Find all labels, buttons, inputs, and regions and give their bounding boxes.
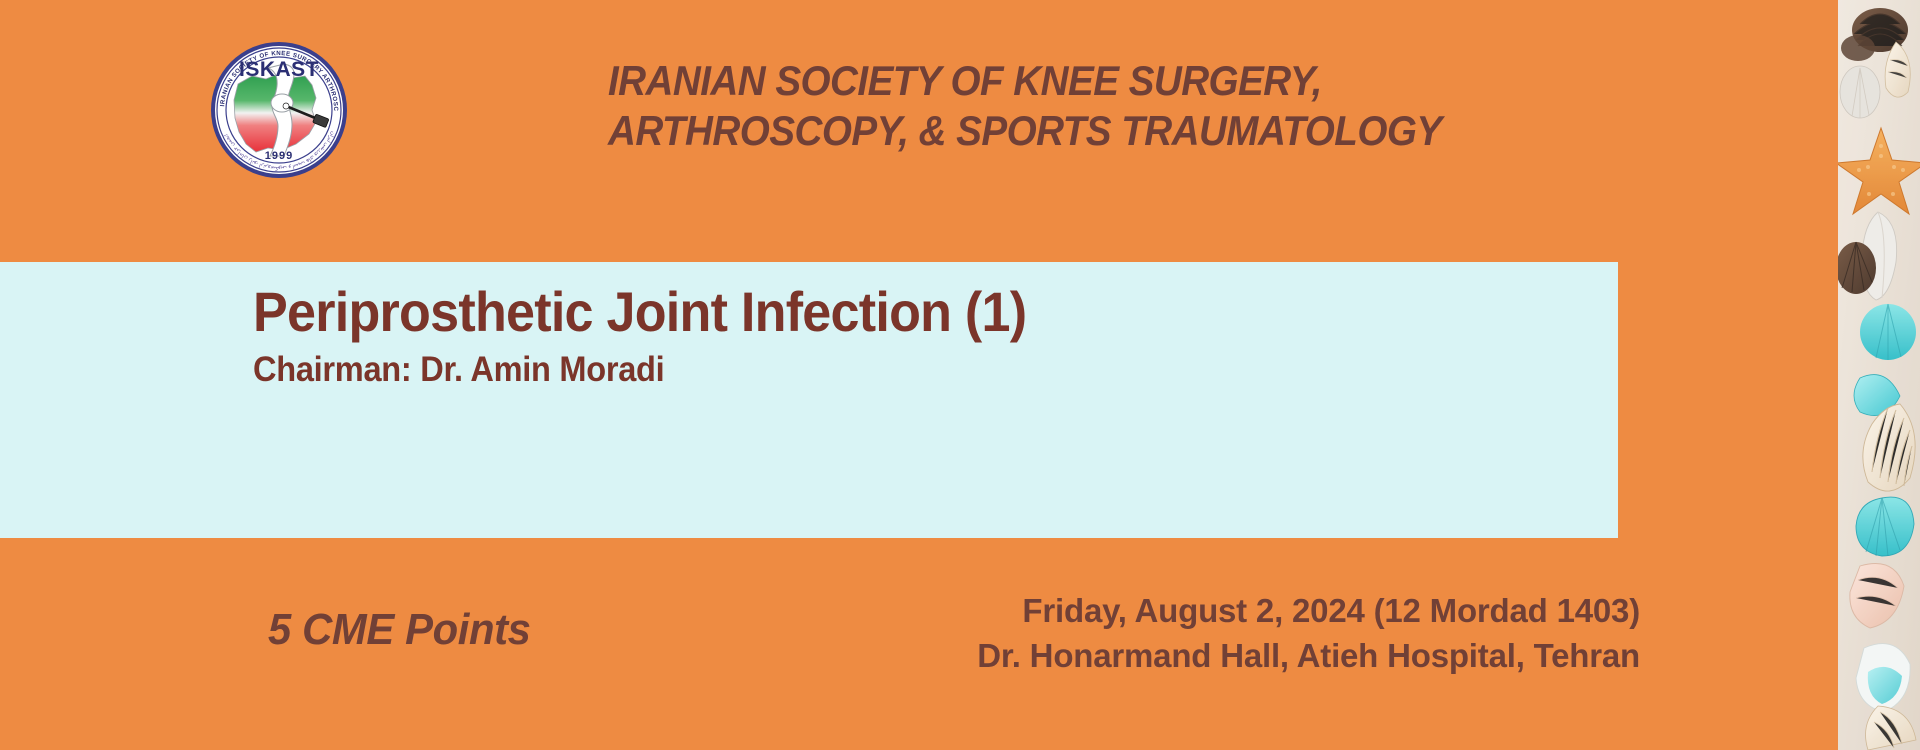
session-chairman: Chairman: Dr. Amin Moradi [253,349,664,391]
banner-footer: 5 CME Points Friday, August 2, 2024 (12 … [0,538,1838,750]
seashell-decoration-strip [1838,0,1920,750]
iskast-acronym: ISKAST [239,58,319,81]
event-details: Friday, August 2, 2024 (12 Mordad 1403) … [977,588,1640,678]
session-title-band: Periprosthetic Joint Infection (1) Chair… [0,262,1618,538]
iskast-year: 1999 [265,150,293,162]
event-date: Friday, August 2, 2024 (12 Mordad 1403) [977,588,1640,633]
event-banner: IRANIAN SOCIETY OF KNEE SURGERY ARTHROSC… [0,0,1920,750]
banner-header: IRANIAN SOCIETY OF KNEE SURGERY ARTHROSC… [0,0,1838,262]
organization-name-line2: ARTHROSCOPY, & SPORTS TRAUMATOLOGY [608,106,1442,156]
iskast-logo: IRANIAN SOCIETY OF KNEE SURGERY ARTHROSC… [208,40,350,180]
session-title: Periprosthetic Joint Infection (1) [253,281,1026,343]
event-venue: Dr. Honarmand Hall, Atieh Hospital, Tehr… [977,633,1640,678]
cme-points: 5 CME Points [268,604,531,656]
organization-name-line1: IRANIAN SOCIETY OF KNEE SURGERY, [608,56,1442,106]
organization-name: IRANIAN SOCIETY OF KNEE SURGERY, ARTHROS… [608,56,1442,156]
